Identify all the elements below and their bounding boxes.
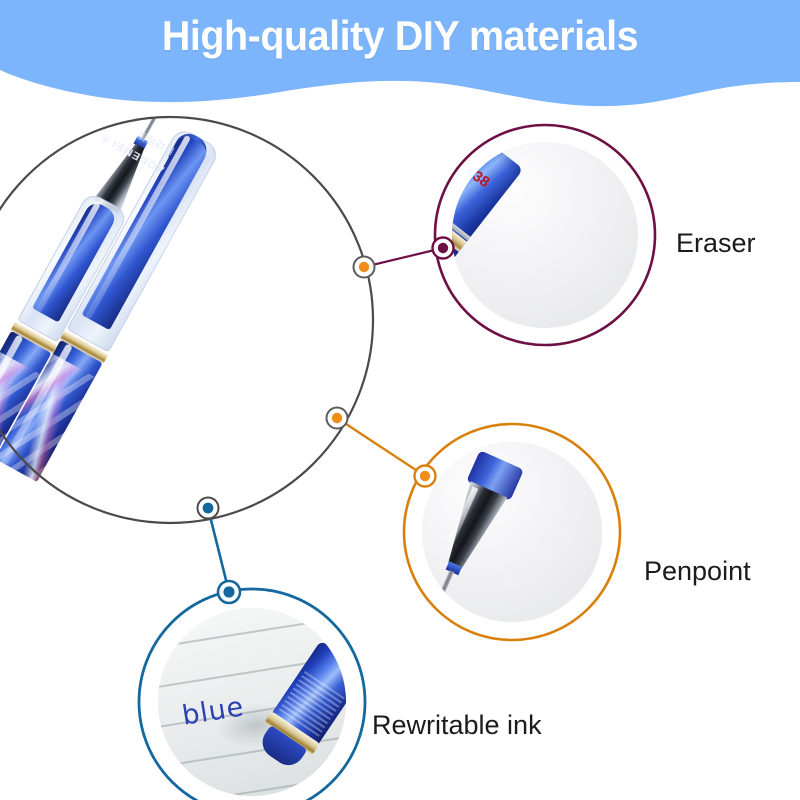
eraser-pen-marking: 0.38 — [459, 160, 493, 191]
callout-label-eraser: Eraser — [676, 228, 756, 259]
rewritable-ink-closeup-photo: blue — [158, 608, 346, 796]
header-banner: High-quality DIY materials — [0, 0, 800, 115]
rewritable-ink-connector-line — [208, 508, 229, 592]
infographic-page: High-quality DIY materials AODEMEI — [0, 0, 800, 800]
page-title: High-quality DIY materials — [24, 12, 776, 60]
eraser-ring-dot — [433, 238, 454, 259]
eraser-connector-line — [364, 248, 443, 267]
callout-label-penpoint: Penpoint — [644, 556, 751, 587]
penpoint-needle — [436, 570, 454, 603]
eraser-hub-dot — [354, 257, 375, 278]
callout-label-rewritable-ink: Rewritable ink — [372, 710, 542, 741]
hero-pens-photo: AODEMEI ® 自动可擦 — [0, 130, 340, 510]
rewritable-ink-ring-dot — [218, 581, 240, 603]
penpoint-closeup-photo — [422, 442, 602, 622]
penpoint-connector-line — [337, 418, 425, 476]
eraser-closeup-photo: 0.38 — [452, 142, 638, 328]
